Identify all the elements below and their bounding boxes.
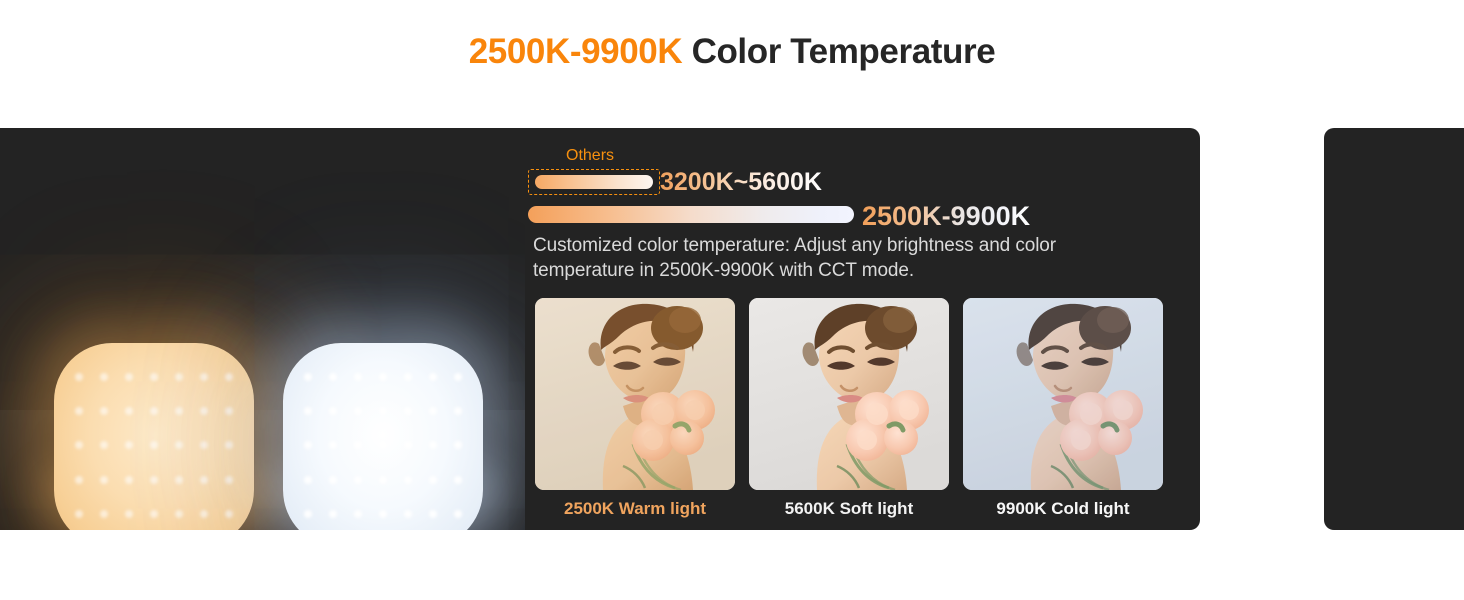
- led-dot: [354, 373, 362, 381]
- feature-panel: Others 3200K~5600K 2500K-9900K Customize…: [0, 128, 1200, 530]
- others-label: Others: [566, 146, 614, 166]
- sample-cell-cold: 9900K Cold light: [963, 298, 1163, 520]
- info-column: Others 3200K~5600K 2500K-9900K Customize…: [528, 128, 1188, 530]
- warm-led-dot-grid: [66, 359, 242, 530]
- portrait-illustration: [535, 298, 735, 490]
- led-dot: [225, 373, 233, 381]
- led-dot: [379, 441, 387, 449]
- others-range-box: [528, 169, 660, 195]
- led-dot: [329, 373, 337, 381]
- portrait-illustration: [963, 298, 1163, 490]
- product-feature-page: 2500K-9900K Color Temperature: [0, 0, 1464, 600]
- sample-caption-soft: 5600K Soft light: [749, 498, 949, 520]
- led-dot: [329, 441, 337, 449]
- led-dot: [200, 373, 208, 381]
- full-gradient-bar: [528, 206, 854, 223]
- led-dot: [429, 373, 437, 381]
- led-dot: [75, 510, 83, 518]
- led-dot: [429, 476, 437, 484]
- led-dot: [75, 476, 83, 484]
- led-dot: [454, 373, 462, 381]
- led-dot: [329, 510, 337, 518]
- led-dot: [225, 510, 233, 518]
- led-dot: [429, 441, 437, 449]
- full-range-label: 2500K-9900K: [862, 198, 1030, 234]
- led-dot: [379, 510, 387, 518]
- led-dot: [225, 476, 233, 484]
- sample-photo-cold: [963, 298, 1163, 490]
- led-dot: [329, 407, 337, 415]
- led-dot: [454, 407, 462, 415]
- led-dot: [404, 441, 412, 449]
- led-dot: [379, 407, 387, 415]
- led-dot: [125, 476, 133, 484]
- led-dot: [354, 407, 362, 415]
- led-dot: [150, 407, 158, 415]
- led-dot: [225, 407, 233, 415]
- next-feature-panel: [1324, 128, 1464, 530]
- sample-photo-soft: [749, 298, 949, 490]
- led-dot: [150, 476, 158, 484]
- page-title: 2500K-9900K Color Temperature: [0, 28, 1464, 76]
- page-title-accent: 2500K-9900K: [469, 32, 683, 71]
- portrait-illustration: [749, 298, 949, 490]
- led-dot: [200, 476, 208, 484]
- led-dot: [200, 441, 208, 449]
- led-dot: [379, 373, 387, 381]
- feature-description: Customized color temperature: Adjust any…: [533, 233, 1133, 283]
- led-dot: [304, 476, 312, 484]
- led-dot: [304, 373, 312, 381]
- led-dot: [150, 510, 158, 518]
- led-dot: [200, 407, 208, 415]
- led-dot: [175, 510, 183, 518]
- cool-led-dot-grid: [295, 359, 471, 530]
- led-dot: [125, 407, 133, 415]
- cool-led-panel: [283, 343, 483, 530]
- led-dot: [100, 510, 108, 518]
- led-dot: [100, 476, 108, 484]
- led-dot: [100, 373, 108, 381]
- led-dot: [429, 510, 437, 518]
- led-dot: [100, 441, 108, 449]
- led-dot: [75, 407, 83, 415]
- led-dot: [329, 476, 337, 484]
- product-stage: [0, 128, 525, 530]
- page-title-main: Color Temperature: [692, 32, 996, 71]
- led-dot: [125, 510, 133, 518]
- warm-led-panel: [54, 343, 254, 530]
- led-dot: [404, 407, 412, 415]
- led-dot: [100, 407, 108, 415]
- led-dot: [150, 441, 158, 449]
- led-dot: [354, 510, 362, 518]
- led-dot: [404, 510, 412, 518]
- led-dot: [75, 441, 83, 449]
- led-dot: [454, 476, 462, 484]
- led-dot: [175, 441, 183, 449]
- sample-caption-cold: 9900K Cold light: [963, 498, 1163, 520]
- sample-cell-soft: 5600K Soft light: [749, 298, 949, 520]
- led-dot: [404, 373, 412, 381]
- others-gradient-bar: [535, 175, 653, 189]
- led-dot: [125, 441, 133, 449]
- sample-caption-warm: 2500K Warm light: [535, 498, 735, 520]
- led-dot: [175, 407, 183, 415]
- led-dot: [304, 510, 312, 518]
- led-dot: [379, 476, 387, 484]
- led-dot: [125, 373, 133, 381]
- led-dot: [175, 373, 183, 381]
- sample-cell-warm: 2500K Warm light: [535, 298, 735, 520]
- led-dot: [454, 441, 462, 449]
- led-dot: [225, 441, 233, 449]
- others-range-label: 3200K~5600K: [660, 165, 822, 199]
- led-dot: [304, 407, 312, 415]
- led-dot: [150, 373, 158, 381]
- led-dot: [354, 476, 362, 484]
- led-dot: [429, 407, 437, 415]
- sample-photo-row: 2500K Warm light: [535, 298, 1171, 520]
- led-dot: [304, 441, 312, 449]
- led-dot: [454, 510, 462, 518]
- led-dot: [175, 476, 183, 484]
- sample-photo-warm: [535, 298, 735, 490]
- led-dot: [75, 373, 83, 381]
- led-dot: [354, 441, 362, 449]
- led-dot: [200, 510, 208, 518]
- led-dot: [404, 476, 412, 484]
